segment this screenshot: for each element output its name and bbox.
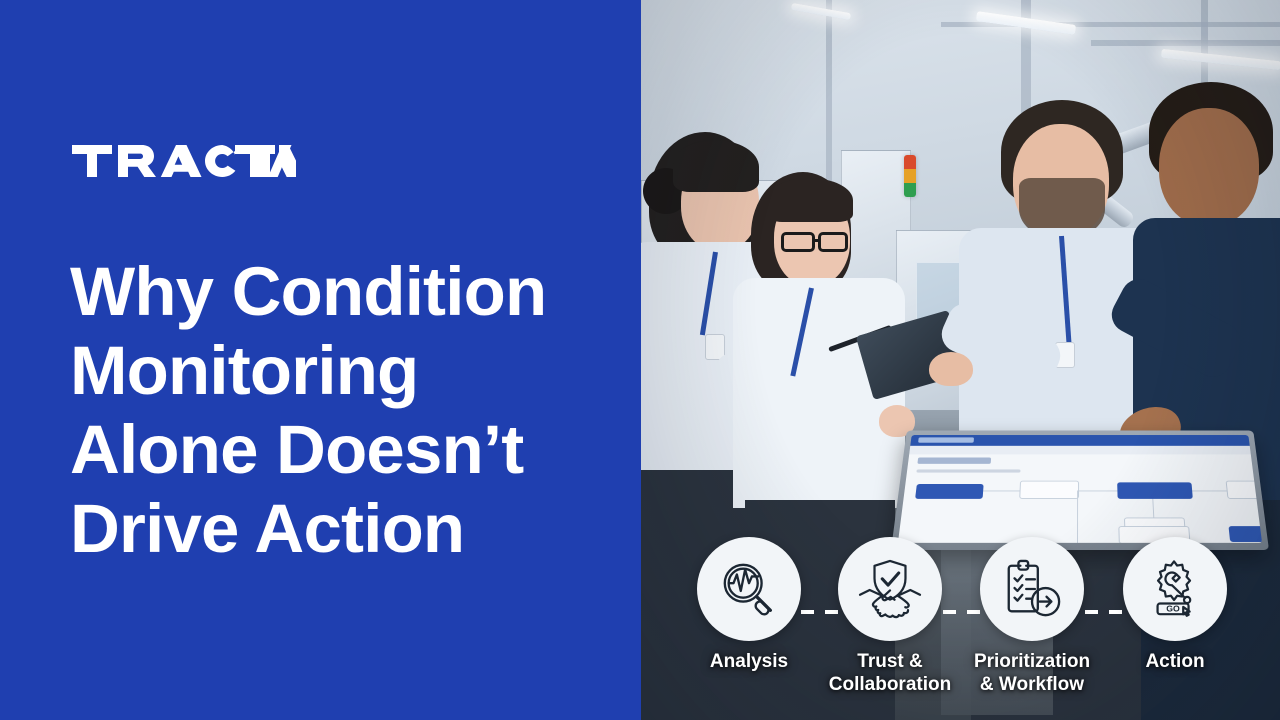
step-prioritization-label: Prioritization & Workflow [967, 650, 1097, 696]
flow-node-start [915, 484, 984, 499]
page-title: Why Condition Monitoring Alone Doesn’t D… [70, 252, 630, 568]
clipboard-checklist-arrow-icon [1001, 558, 1063, 620]
flow-node-highlighted [1117, 482, 1193, 499]
tractian-logo [72, 143, 296, 179]
app-toolbar [909, 446, 1251, 455]
step-analysis[interactable]: Analysis [684, 528, 814, 673]
blurred-title-text [918, 437, 974, 442]
step-action-circle[interactable]: GO [1123, 537, 1227, 641]
hair-front [767, 178, 853, 222]
eyeglasses [818, 232, 848, 252]
left-blue-panel: Why Condition Monitoring Alone Doesn’t D… [0, 0, 641, 720]
step-prioritization-circle[interactable] [980, 537, 1084, 641]
flow-connector [1192, 491, 1227, 492]
flow-connector [1152, 499, 1154, 518]
flow-node [1019, 481, 1079, 499]
flow-connector [1079, 491, 1117, 492]
face [1159, 108, 1259, 226]
eyeglasses-bridge [814, 239, 820, 242]
step-trust-label: Trust & Collaboration [825, 650, 955, 696]
step-analysis-label: Analysis [684, 650, 814, 673]
magnifier-waveform-icon [718, 558, 780, 620]
hair-front [673, 140, 759, 192]
process-steps-strip: Analysis [641, 528, 1280, 720]
blurred-body-text [916, 469, 1020, 472]
machine-stack-light [904, 155, 916, 197]
ceiling-beam [1091, 40, 1280, 46]
hand-pointing [929, 352, 973, 386]
gear-wrench-go-icon: GO [1144, 558, 1206, 620]
title-line-4: Drive Action [70, 489, 630, 568]
title-line-3: Alone Doesn’t [70, 410, 630, 489]
go-button-text: GO [1166, 604, 1180, 614]
step-analysis-circle[interactable] [697, 537, 801, 641]
step-prioritization[interactable]: Prioritization & Workflow [967, 528, 1097, 696]
step-action-label: Action [1110, 650, 1240, 673]
slide-root: Why Condition Monitoring Alone Doesn’t D… [0, 0, 1280, 720]
table-display [898, 435, 1262, 543]
blurred-subtitle-text [917, 458, 991, 464]
flow-connector [983, 491, 1019, 492]
step-action[interactable]: GO Action [1110, 528, 1240, 673]
flow-connector [1256, 499, 1260, 526]
step-trust[interactable]: Trust & Collaboration [825, 528, 955, 696]
eyeglasses [781, 232, 815, 252]
handshake-shield-icon [858, 559, 922, 619]
title-line-1: Why Condition [70, 252, 630, 331]
title-line-2: Monitoring [70, 331, 630, 410]
step-trust-circle[interactable] [838, 537, 942, 641]
flow-node [1226, 481, 1262, 499]
